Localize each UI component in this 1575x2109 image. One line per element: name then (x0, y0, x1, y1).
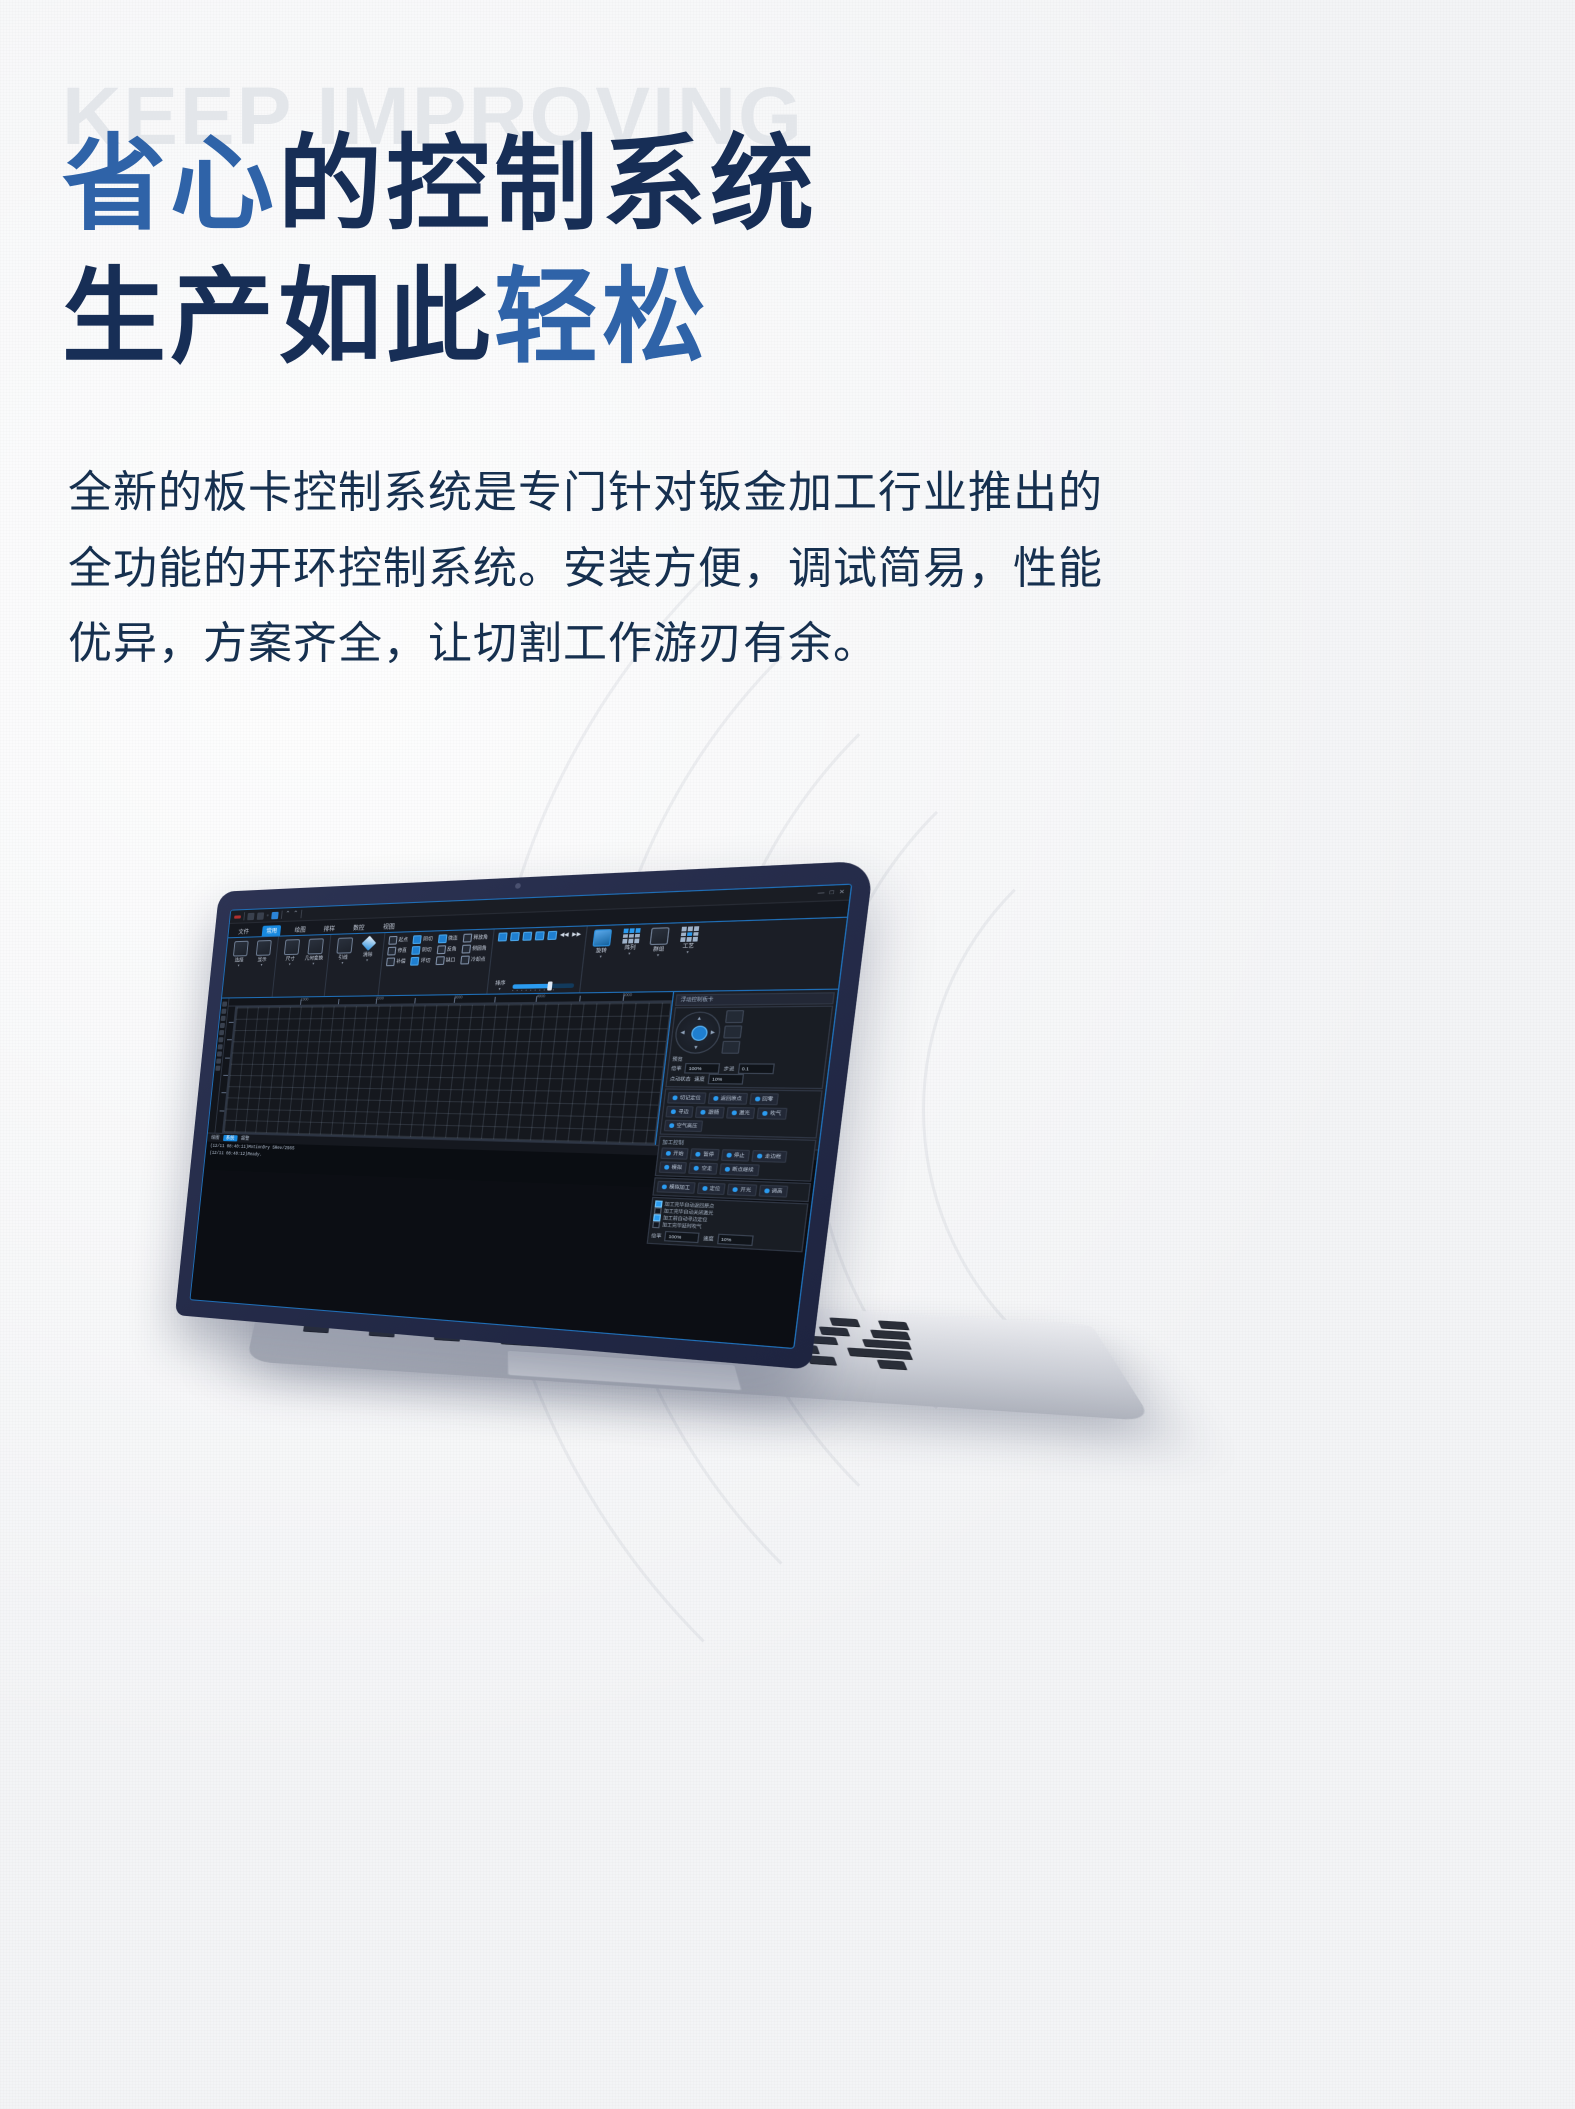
tool-label: 停直 (397, 947, 407, 954)
tool-label: 反角 (447, 946, 457, 953)
slider-ticks (512, 989, 574, 991)
tool-label: 释放角 (473, 934, 488, 941)
cursor-icon (232, 941, 248, 957)
chip-label: 寻边 (678, 1108, 689, 1115)
chip-height[interactable]: 调高 (758, 1185, 788, 1198)
rate-field[interactable]: 100% (685, 1063, 721, 1074)
numpad-key[interactable] (723, 1025, 742, 1038)
chip-edgefind[interactable]: 寻边 (665, 1106, 694, 1118)
chip-highpressure-air[interactable]: 空气高压 (664, 1120, 703, 1132)
array-button[interactable]: 阵列 ▾ (617, 928, 644, 956)
tab-cnc[interactable]: 数控 (348, 922, 369, 933)
chip-start[interactable]: 开始 (660, 1147, 689, 1159)
chip-openlight[interactable]: 开光 (727, 1183, 757, 1196)
chip-label: 停止 (733, 1152, 744, 1159)
tool-icon[interactable] (221, 1009, 226, 1014)
tab-home[interactable]: 常用 (262, 925, 282, 936)
laptop-mockup: ⌃ ⌃ — □ ✕ 文件 常用 绘图 排样 数控 视图 (165, 880, 1125, 1520)
tool-compensation[interactable]: 补偿 (386, 957, 406, 966)
tool-microjoint[interactable]: 微连 (437, 934, 458, 943)
headline-rest-2: 生产如此 (62, 256, 494, 378)
rate-row: 倍率 100% 步进 0.1 (671, 1063, 822, 1075)
jog-center-button[interactable] (690, 1026, 708, 1041)
chip-laser[interactable]: 激光 (726, 1107, 756, 1119)
page-title: 省心的控制系统 生产如此轻松 (62, 118, 1362, 384)
leadline-button[interactable]: 引线 ▾ (332, 937, 355, 965)
window-controls[interactable]: — □ ✕ (817, 889, 845, 897)
dimension-icon (283, 939, 299, 955)
numpad-key[interactable] (721, 1041, 740, 1054)
tool-label: 冷却点 (471, 956, 486, 963)
dimension-button[interactable]: 尺寸 ▾ (280, 939, 302, 966)
chip-label: 吹气 (770, 1110, 782, 1117)
headline-rest-1: 的控制系统 (278, 123, 818, 245)
chip-label: 暂停 (703, 1151, 714, 1158)
sort-step-2-icon[interactable] (522, 932, 532, 941)
chip-label: 开始 (673, 1150, 684, 1157)
chip-stop[interactable]: 停止 (721, 1149, 751, 1162)
sort-slider[interactable] (512, 983, 574, 989)
tool-sidefillet[interactable]: 侧圆角 (461, 944, 487, 953)
tool-label: 阴切 (423, 936, 433, 943)
chip-label: 调高 (771, 1188, 783, 1196)
tool-icon[interactable] (222, 1002, 227, 1007)
tool-notch[interactable]: 缺口 (435, 956, 456, 965)
tool-icon[interactable] (217, 1051, 222, 1056)
sort-cw-icon[interactable] (497, 932, 507, 941)
chevron-down-icon[interactable]: ▾ (657, 954, 660, 957)
tool-icon[interactable] (218, 1044, 223, 1049)
numpad-key[interactable] (725, 1010, 744, 1023)
save-icon[interactable] (234, 915, 241, 918)
tool-row: 起点 阴切 微连 释放角 (388, 933, 488, 945)
preview-label: 预览 (672, 1056, 683, 1063)
prev-icon[interactable]: ◀◀ (559, 932, 569, 939)
jog-control: ▲ ▼ ◀ ▶ (665, 1006, 833, 1090)
jogstate-row: 点动状态 速度 10% (669, 1073, 820, 1085)
step-field[interactable]: 0.1 (737, 1063, 774, 1074)
sort-button[interactable]: 排序 ▾ (492, 981, 509, 992)
chip-label: 空走 (701, 1165, 712, 1172)
ribbon-group-lead: 引线 ▾ 清除 ▾ (325, 933, 386, 996)
chip-label: 返回原点 (720, 1095, 742, 1102)
tool-coolingpoint[interactable]: 冷却点 (460, 955, 486, 964)
jog-right-icon[interactable]: ▶ (710, 1029, 715, 1036)
group-icon (650, 927, 670, 945)
user-icon[interactable] (271, 911, 279, 919)
bottom-tab-alarm[interactable]: 报警 (241, 1135, 250, 1141)
tab-nesting[interactable]: 排样 (319, 923, 339, 934)
tool-row: 补偿 环切 缺口 冷却点 (386, 955, 486, 966)
lede-paragraph: 全新的板卡控制系统是专门针对钣金加工行业推出的全功能的开环控制系统。安装方便，调… (68, 455, 1143, 682)
tool-label: 补偿 (396, 958, 406, 965)
tool-label: 阴切 (422, 947, 432, 954)
tab-draw[interactable]: 绘图 (290, 924, 310, 935)
drawing-canvas[interactable] (223, 1001, 672, 1144)
chevron-down-icon[interactable]: ▾ (366, 959, 368, 962)
laptop-lid: ⌃ ⌃ — □ ✕ 文件 常用 绘图 排样 数控 视图 (175, 861, 874, 1370)
webcam-icon (515, 883, 521, 889)
tool-icon[interactable] (219, 1030, 224, 1035)
jog-dpad[interactable]: ▲ ▼ ◀ ▶ (673, 1011, 723, 1053)
chip-label: 空气高压 (676, 1122, 697, 1129)
layers-icon (255, 940, 271, 956)
tool-releasecorner[interactable]: 释放角 (463, 933, 489, 943)
sort-step-3-icon[interactable] (534, 931, 544, 940)
tool-reversecorner[interactable]: 反角 (436, 945, 457, 954)
speed-field[interactable]: 10% (717, 1234, 754, 1246)
ribbon-group-sort: ◀◀ ▶▶ 排序 ▾ (487, 926, 588, 993)
tool-shadecut-2[interactable]: 阴切 (411, 946, 431, 955)
machining-control: 加工控制 开始 暂停 停止 走边框 模拟 空走 断点继续 (655, 1136, 817, 1182)
chip-label: 激光 (739, 1109, 751, 1116)
chip-label: 切记定位 (680, 1094, 702, 1101)
work-area: 1000 2000 3000 4000 5000 (208, 990, 838, 1150)
chip-label: 模拟加工 (669, 1184, 690, 1192)
chevron-down-icon[interactable]: ▾ (599, 956, 601, 959)
rotate-icon (593, 929, 613, 947)
tab-view[interactable]: 视图 (378, 921, 399, 932)
headline-accent-2: 轻松 (494, 256, 710, 378)
rate-field[interactable]: 100% (664, 1231, 700, 1243)
chip-mark-locate[interactable]: 切记定位 (667, 1092, 706, 1104)
checkbox-icon[interactable] (652, 1221, 660, 1228)
clear-icon (361, 937, 376, 951)
group-button[interactable]: 群组 ▾ (646, 927, 674, 957)
tool-ringcut[interactable]: 环切 (410, 957, 430, 966)
chevron-down-icon[interactable]: ▾ (341, 962, 343, 965)
tool-label: 缺口 (445, 957, 455, 964)
process-icon (680, 926, 699, 942)
ribbon-group-geometry: 尺寸 ▾ 几何变换 ▾ (273, 935, 332, 997)
chip-label: 模拟 (671, 1164, 682, 1171)
tool-icon[interactable] (215, 1066, 220, 1071)
clear-button[interactable]: 清除 ▾ (357, 936, 380, 962)
jog-down-icon[interactable]: ▼ (693, 1044, 699, 1050)
tool-icon[interactable] (216, 1059, 221, 1064)
jog-left-icon[interactable]: ◀ (680, 1029, 685, 1036)
chip-locate[interactable]: 定位 (697, 1182, 726, 1195)
chip-follow[interactable]: 跟随 (695, 1106, 724, 1118)
chip-label: 定位 (709, 1185, 720, 1192)
chip-resume-breakpoint[interactable]: 断点继续 (719, 1163, 759, 1176)
chip-home[interactable]: 回零 (749, 1093, 779, 1105)
sort-step-4-icon[interactable] (547, 931, 557, 940)
new-file-icon[interactable] (247, 912, 254, 919)
tool-row: 停直 阴切 反角 侧圆角 (387, 944, 487, 955)
print-icon[interactable] (267, 914, 269, 916)
step-label: 步进 (723, 1065, 734, 1072)
next-icon[interactable]: ▶▶ (572, 931, 582, 938)
speed-label: 速度 (703, 1235, 714, 1243)
chevron-down-icon[interactable]: ▾ (289, 963, 291, 966)
numpad[interactable] (721, 1010, 744, 1054)
tool-label: 侧圆角 (472, 945, 487, 952)
chip-dryrun[interactable]: 空走 (689, 1162, 718, 1175)
tool-stopline[interactable]: 停直 (387, 946, 407, 955)
chip-sim-title[interactable]: 模拟加工 (656, 1181, 695, 1194)
app-screen: ⌃ ⌃ — □ ✕ 文件 常用 绘图 排样 数控 视图 (189, 884, 852, 1350)
tool-shadecut-1[interactable]: 阴切 (413, 935, 433, 944)
speed-label: 速度 (694, 1075, 705, 1082)
tool-icon[interactable] (221, 1016, 226, 1021)
display-button[interactable]: 显示 ▾ (252, 940, 274, 967)
process-button[interactable]: 工艺 ▾ (675, 926, 703, 954)
option-label: 加工完毕延时吹气 (662, 1222, 702, 1231)
canvas-container: 1000 2000 3000 4000 5000 (215, 992, 674, 1145)
ribbon-group-arrange: 旋转 ▾ 阵列 ▾ 群组 ▾ (580, 922, 708, 992)
close-icon[interactable]: ✕ (839, 889, 846, 897)
rate-label: 倍率 (651, 1232, 662, 1239)
array-icon (622, 928, 640, 943)
chip-label: 回零 (762, 1096, 774, 1103)
cut-control: 切记定位 返回原点 回零 寻边 跟随 激光 吹气 空气高压 (660, 1088, 823, 1138)
chip-label: 开光 (740, 1186, 752, 1193)
chip-blow[interactable]: 吹气 (757, 1107, 787, 1119)
tool-icon[interactable] (218, 1037, 223, 1042)
chevron-down-icon[interactable]: ▾ (686, 951, 689, 954)
rate-label: 倍率 (671, 1065, 682, 1072)
bottom-tab-draw[interactable]: 绘图 (211, 1135, 220, 1141)
select-button[interactable]: 选择 ▾ (229, 941, 251, 968)
chip-pause[interactable]: 暂停 (690, 1148, 719, 1161)
chip-simulate[interactable]: 模拟 (659, 1161, 688, 1173)
chevron-down-icon[interactable]: ▾ (238, 965, 240, 968)
rotate-button[interactable]: 旋转 ▾ (589, 929, 616, 959)
chevron-down-icon[interactable]: ▾ (260, 964, 262, 967)
chip-label: 断点继续 (732, 1166, 754, 1174)
headline-accent-1: 省心 (62, 123, 278, 245)
redo-icon[interactable]: ⌃ (293, 911, 299, 917)
maximize-icon[interactable]: □ (829, 889, 834, 896)
tool-label: 起点 (398, 937, 408, 944)
tool-startpoint[interactable]: 起点 (388, 936, 408, 945)
options-list: 加工完毕自动返回原点 加工完毕自动关闭激光 加工前自动寻边定位 加工完毕延时吹气… (647, 1197, 809, 1253)
jogstate-label: 点动状态 (670, 1075, 691, 1082)
speed-field[interactable]: 10% (708, 1074, 745, 1085)
minimize-icon[interactable]: — (817, 890, 825, 898)
tool-label: 微连 (448, 935, 458, 942)
undo-icon[interactable]: ⌃ (285, 911, 291, 917)
chevron-down-icon[interactable]: ▾ (628, 953, 631, 956)
open-file-icon[interactable] (257, 912, 264, 920)
chip-frame[interactable]: 走边框 (751, 1150, 787, 1163)
transform-button[interactable]: 几何变换 ▾ (303, 938, 326, 965)
chip-label: 走边框 (765, 1153, 782, 1161)
chevron-down-icon[interactable]: ▾ (312, 963, 314, 966)
ribbon-group-tools: 起点 阴切 微连 释放角 停直 阴切 反角 侧圆角 补偿 (379, 930, 495, 996)
panel-title: 浮动控制板卡 (675, 992, 835, 1006)
transform-icon (307, 938, 324, 954)
control-panel: 浮动控制板卡 ▲ ▼ ◀ ▶ (656, 990, 838, 1150)
leadline-icon (336, 937, 353, 953)
tool-icon[interactable] (220, 1023, 225, 1028)
chip-label: 跟随 (708, 1109, 719, 1116)
ribbon-group-select: 选择 ▾ 显示 ▾ (222, 937, 279, 998)
jog-up-icon[interactable]: ▲ (696, 1015, 702, 1021)
chevron-down-icon[interactable]: ▾ (498, 988, 500, 991)
headline-line-2: 生产如此轻松 (62, 251, 1362, 384)
bottom-tab-system[interactable]: 系统 (223, 1135, 238, 1142)
tab-file[interactable]: 文件 (234, 926, 253, 937)
tool-label: 环切 (420, 958, 430, 965)
chip-return-origin[interactable]: 返回原点 (707, 1092, 747, 1104)
sort-step-1-icon[interactable] (510, 932, 520, 941)
